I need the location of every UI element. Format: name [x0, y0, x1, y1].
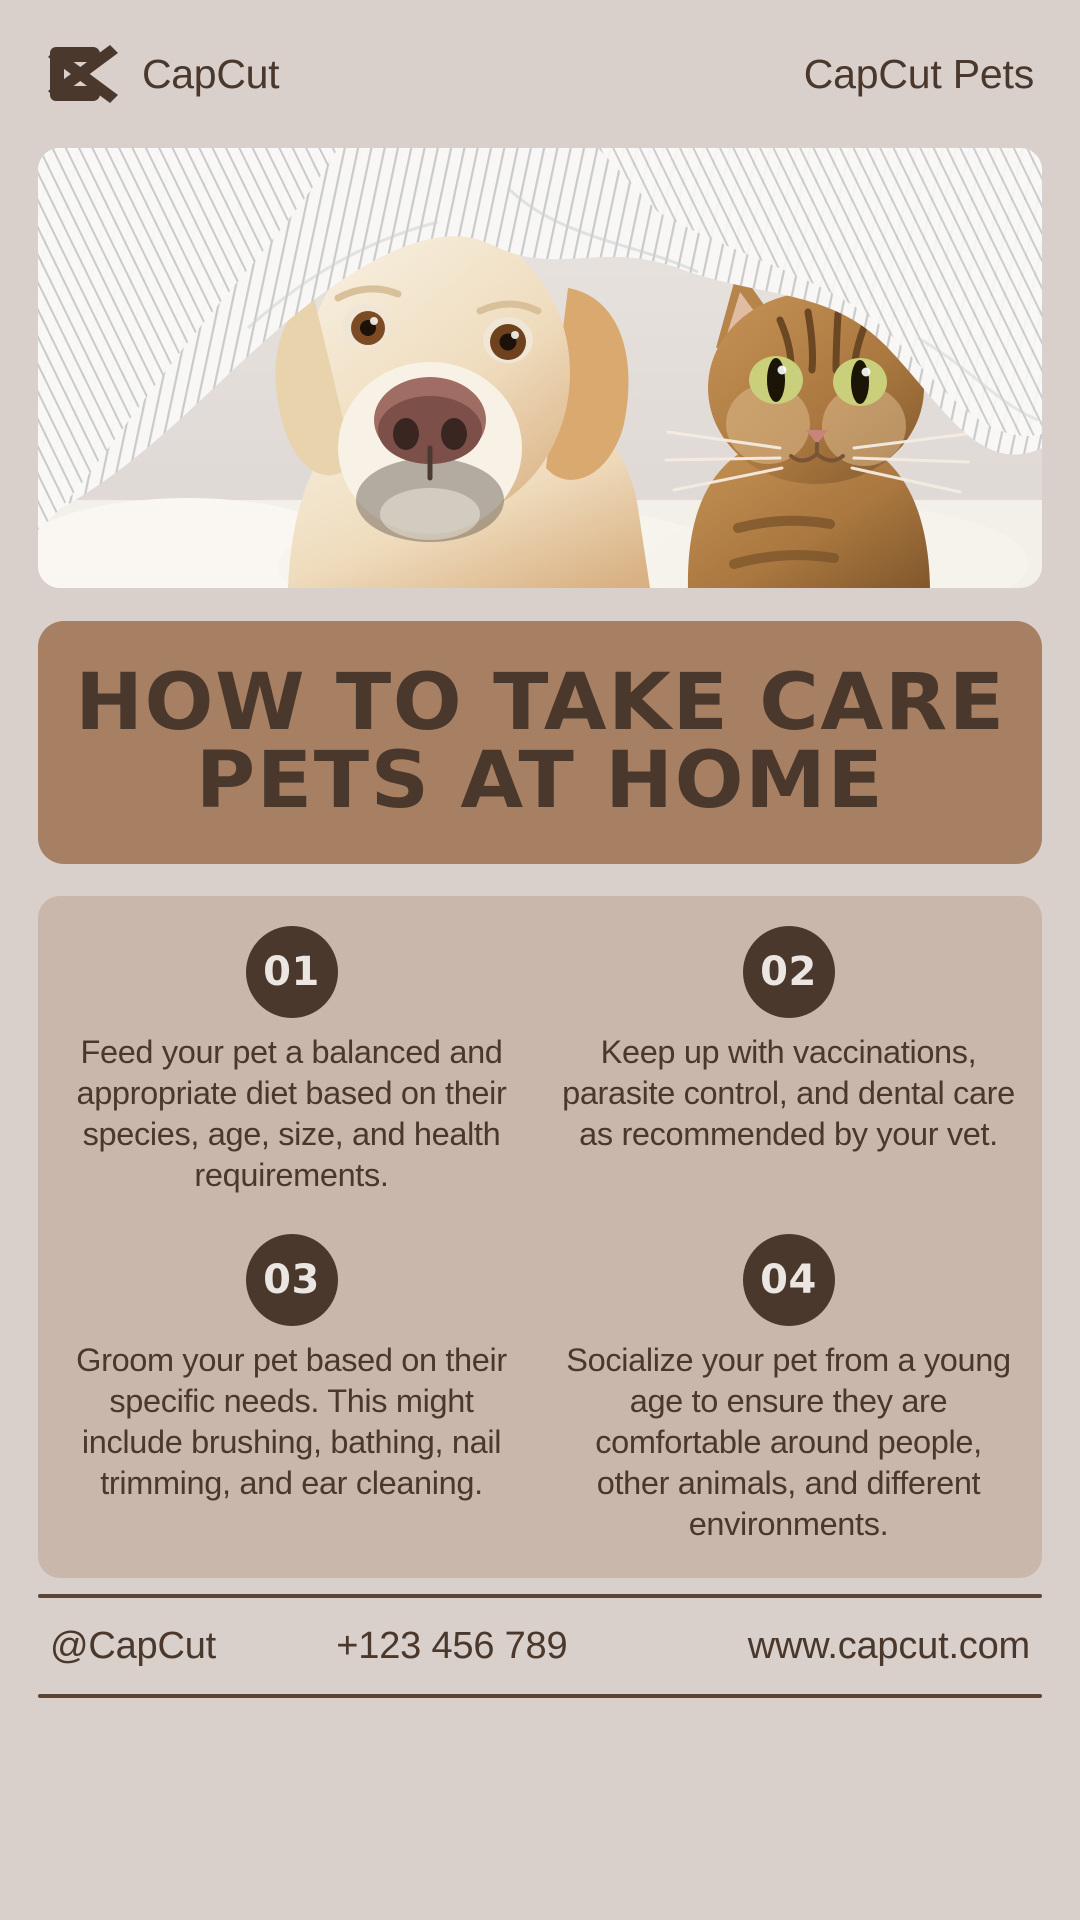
brand-name: CapCut	[142, 51, 279, 98]
footer-social-handle[interactable]: @CapCut	[50, 1625, 216, 1668]
step-item-02: 02 Keep up with vaccinations, parasite c…	[561, 926, 1016, 1196]
step-number-03: 03	[263, 1257, 320, 1303]
footer-spacer	[38, 1698, 1042, 1738]
footer-contact-row: @CapCut +123 456 789 www.capcut.com	[38, 1598, 1042, 1694]
title-line-1: HOW TO TAKE CARE	[75, 665, 1006, 742]
step-badge-02: 02	[743, 926, 835, 1018]
footer-phone[interactable]: +123 456 789	[216, 1625, 748, 1668]
header-right-label: CapCut Pets	[804, 51, 1034, 98]
step-number-01: 01	[263, 949, 320, 995]
step-item-04: 04 Socialize your pet from a young age t…	[561, 1234, 1016, 1545]
step-badge-03: 03	[246, 1234, 338, 1326]
step-text-02: Keep up with vaccinations, parasite cont…	[561, 1032, 1016, 1155]
page-header: CapCut CapCut Pets	[38, 0, 1042, 148]
footer-website[interactable]: www.capcut.com	[748, 1625, 1030, 1668]
step-number-02: 02	[760, 949, 817, 995]
steps-grid: 01 Feed your pet a balanced and appropri…	[64, 926, 1016, 1544]
title-line-2: PETS AT HOME	[196, 743, 885, 820]
step-badge-01: 01	[246, 926, 338, 1018]
capcut-logo-icon	[46, 43, 122, 105]
step-item-03: 03 Groom your pet based on their specifi…	[64, 1234, 519, 1545]
step-text-04: Socialize your pet from a young age to e…	[561, 1340, 1016, 1545]
step-text-01: Feed your pet a balanced and appropriate…	[64, 1032, 519, 1196]
step-item-01: 01 Feed your pet a balanced and appropri…	[64, 926, 519, 1196]
title-banner: HOW TO TAKE CARE PETS AT HOME	[38, 621, 1042, 864]
step-badge-04: 04	[743, 1234, 835, 1326]
brand-lockup[interactable]: CapCut	[46, 43, 279, 105]
step-text-03: Groom your pet based on their specific n…	[64, 1340, 519, 1504]
steps-card: 01 Feed your pet a balanced and appropri…	[38, 896, 1042, 1578]
step-number-04: 04	[760, 1257, 817, 1303]
infographic-poster: CapCut CapCut Pets	[0, 0, 1080, 1920]
hero-photo	[38, 148, 1042, 588]
